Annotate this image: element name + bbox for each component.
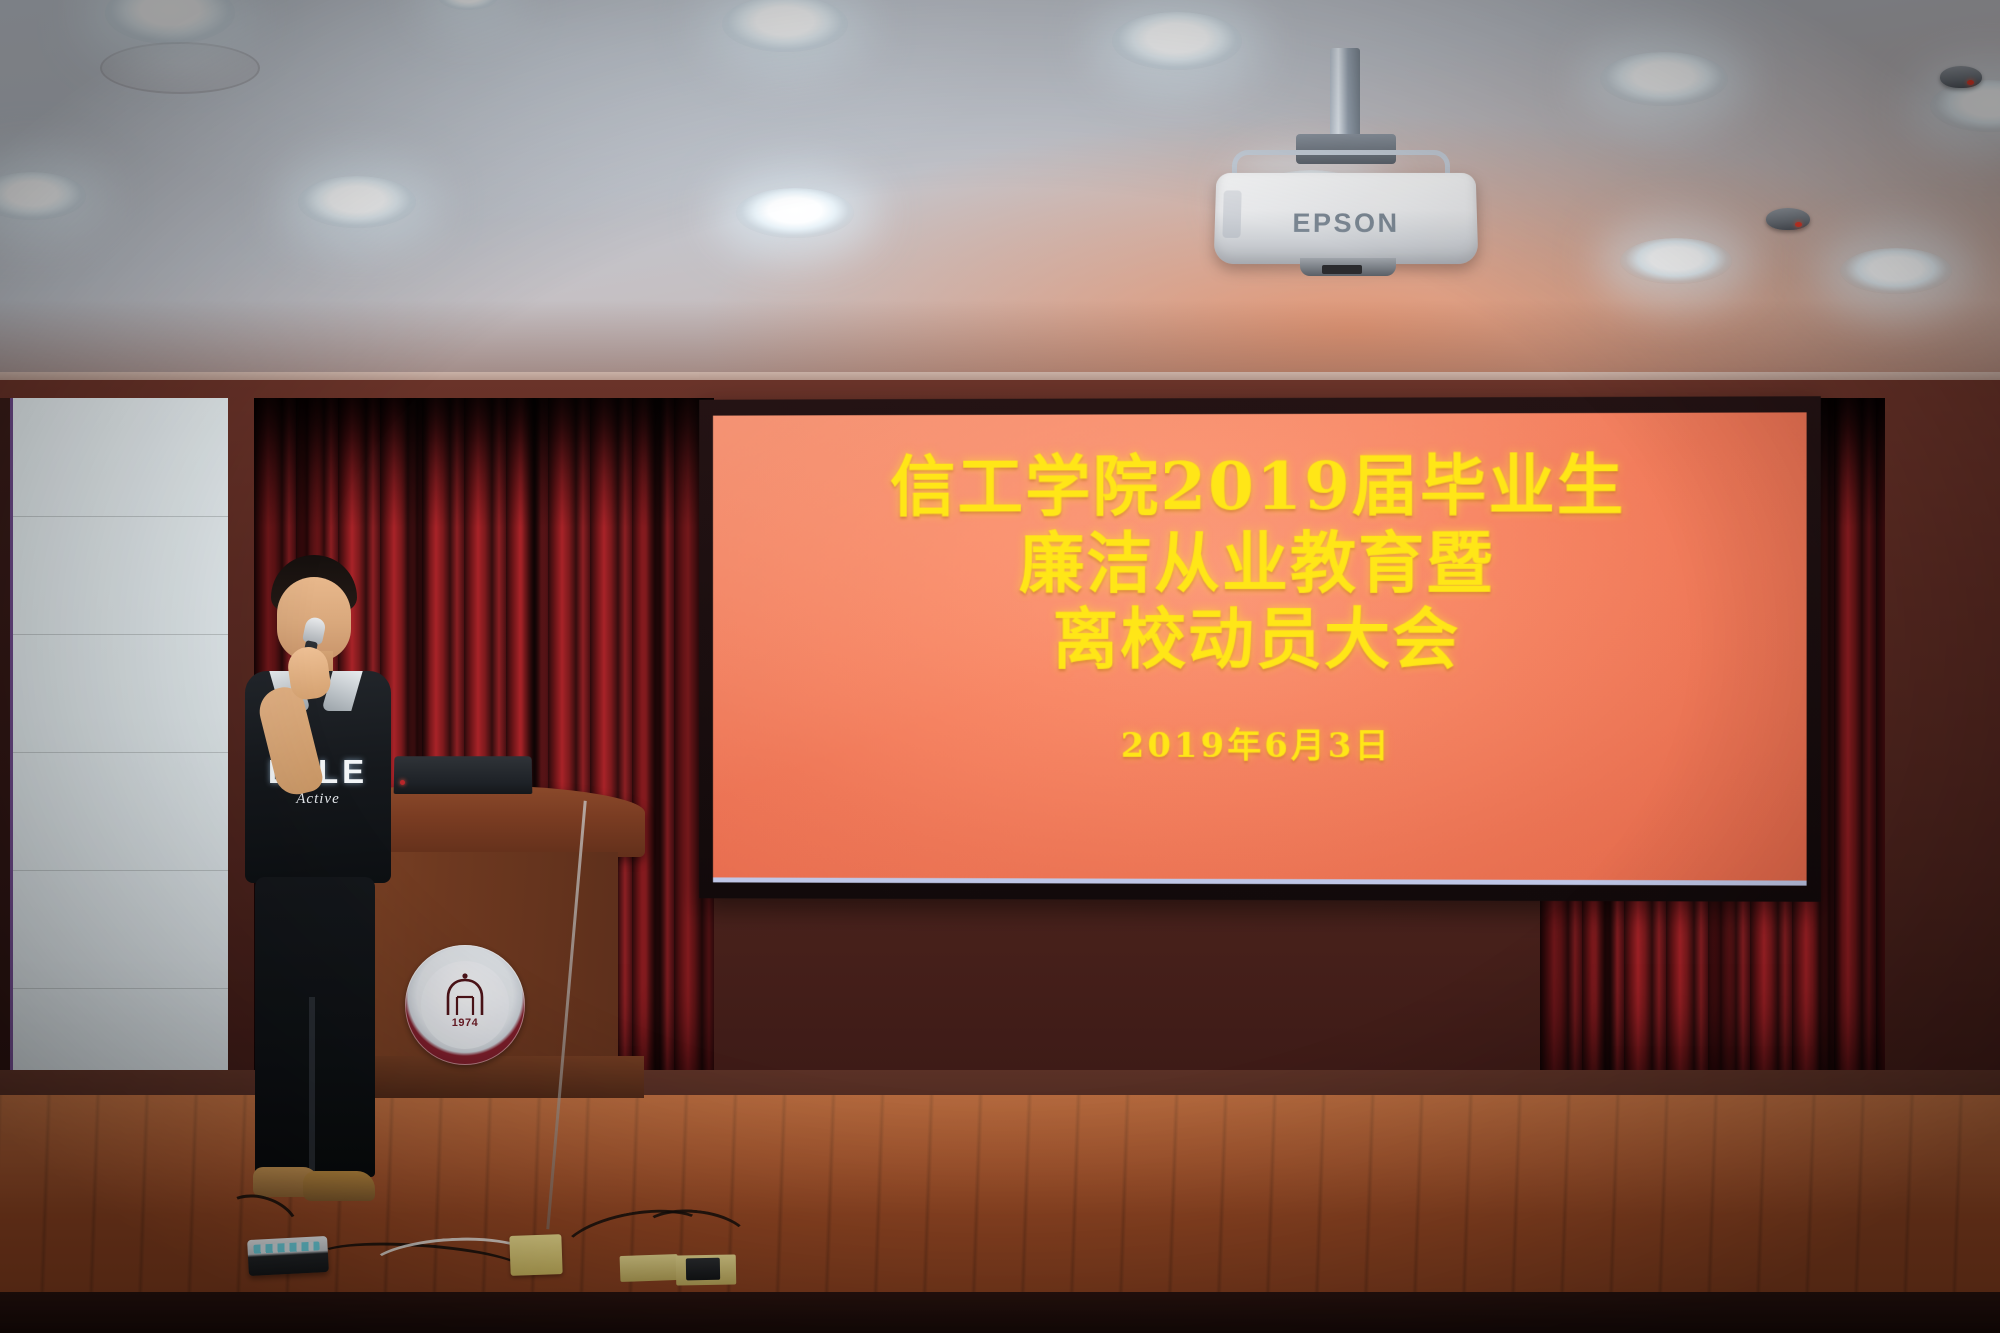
ceiling-light-8 (1600, 52, 1728, 106)
slide-title-line-1: 信工学院2019届毕业生 (713, 447, 1807, 526)
floor-outlet-box (509, 1234, 562, 1276)
emblem-gate-icon (437, 973, 493, 1017)
ceiling-light-10 (1620, 238, 1732, 284)
projection-screen-surface: 信工学院2019届毕业生 廉洁从业教育暨 离校动员大会 2019年6月3日 (713, 412, 1807, 885)
shirt-brand-script-text: Active (245, 791, 391, 808)
slide-title-line-2: 廉洁从业教育暨 (713, 524, 1807, 602)
wall-panel-white (10, 398, 228, 1098)
projection-screen-frame: 信工学院2019届毕业生 廉洁从业教育暨 离校动员大会 2019年6月3日 (699, 396, 1821, 902)
projector-brand-label: EPSON (1214, 208, 1477, 239)
smoke-detector-icon-2 (1940, 66, 1982, 88)
slide-title-line-3: 离校动员大会 (713, 601, 1807, 678)
projector-body: EPSON (1214, 173, 1479, 264)
smoke-detector-icon-1 (1766, 208, 1810, 230)
ceiling-light-3 (298, 176, 416, 228)
projector-mount-pole (1330, 48, 1360, 140)
floor-plate-left (620, 1254, 679, 1282)
ceiling-light-6 (1112, 12, 1242, 70)
ceiling-light-5 (736, 188, 854, 238)
speaker-shoe-right (303, 1171, 375, 1201)
stage-front-edge (0, 1292, 2000, 1333)
speaker-person: ELLE Active (215, 555, 445, 1215)
slide-content: 信工学院2019届毕业生 廉洁从业教育暨 离校动员大会 2019年6月3日 (713, 447, 1807, 768)
conference-hall-photo: EPSON 信工学院2019届毕业生 廉洁从业教育暨 离校动员大会 (0, 0, 2000, 1333)
projector-vent-icon (1322, 265, 1362, 274)
slide-date: 2019年6月3日 (713, 717, 1807, 767)
power-strip (247, 1236, 329, 1276)
ceiling-light-11 (1840, 248, 1952, 294)
speaker-trousers (255, 877, 375, 1177)
ceiling-fixture-ring (100, 42, 260, 94)
floor-plate-right (676, 1254, 737, 1285)
